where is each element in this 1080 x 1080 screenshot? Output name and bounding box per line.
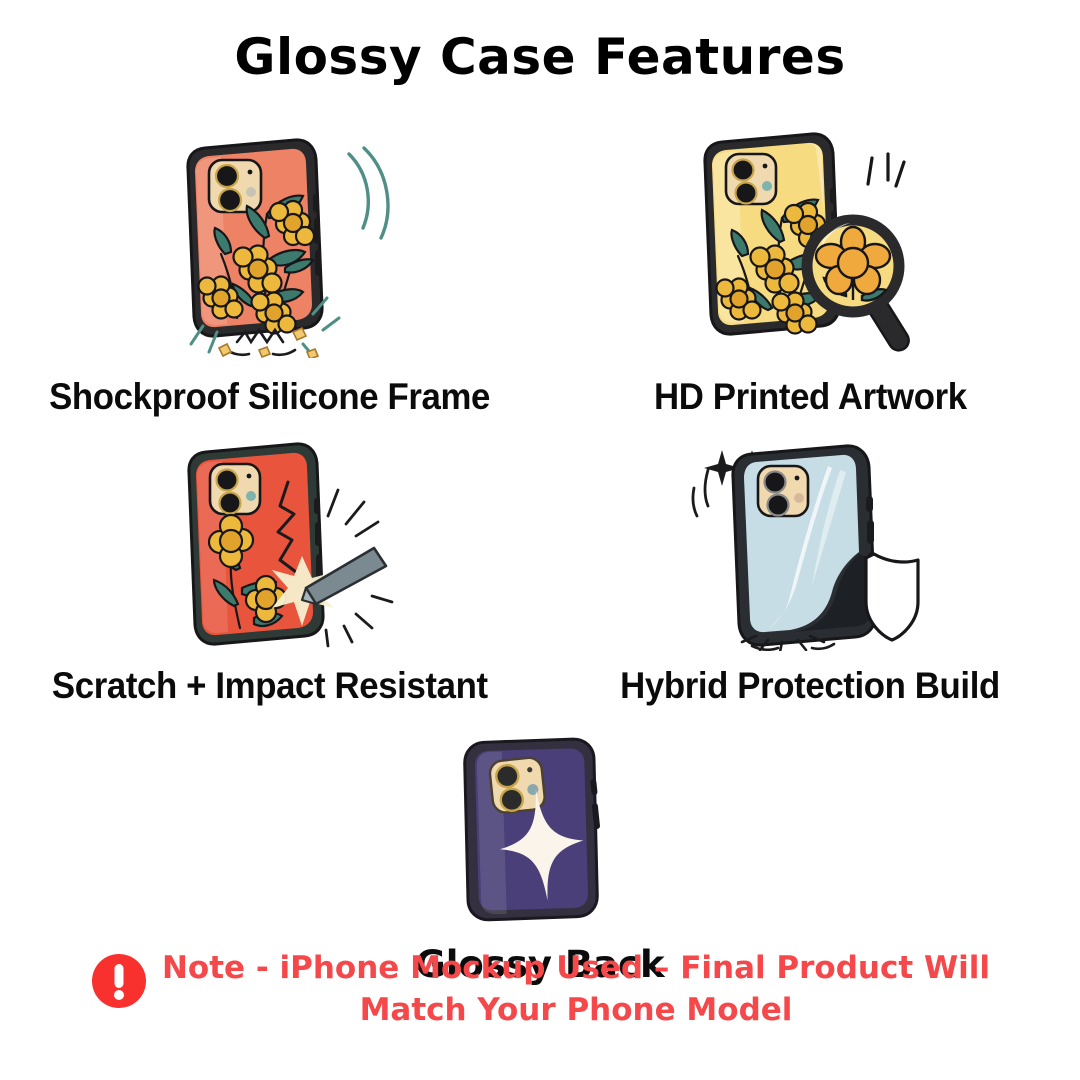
feature-cell-hd-printed-artwork: HD Printed Artwork [540, 118, 1080, 418]
feature-row-2: Scratch + Impact Resistant [0, 436, 1080, 707]
note-line-1: Note - iPhone Mockup Used – Final Produc… [162, 948, 990, 990]
page-title: Glossy Case Features [0, 28, 1080, 86]
note-line-2: Match Your Phone Model [162, 990, 990, 1032]
infographic-page: Glossy Case Features [0, 0, 1080, 1080]
note-text: Note - iPhone Mockup Used – Final Produc… [162, 948, 990, 1032]
note-block: Note - iPhone Mockup Used – Final Produc… [0, 948, 1080, 1032]
feature-cell-scratch-impact-resistant: Scratch + Impact Resistant [0, 436, 540, 707]
phone-case-red-scratch-blade-icon [120, 436, 420, 651]
feature-label-hd-printed-artwork: HD Printed Artwork [654, 376, 967, 418]
phone-case-coral-floral-impact-icon [117, 118, 417, 358]
feature-grid: Shockproof Silicone Frame [0, 118, 1080, 986]
magnifier-icon [807, 220, 912, 354]
feature-label-scratch-impact-resistant: Scratch + Impact Resistant [52, 665, 488, 707]
phone-case-purple-sparkle-icon [410, 729, 670, 929]
feature-cell-shockproof-silicone-frame: Shockproof Silicone Frame [0, 118, 540, 418]
feature-cell-hybrid-protection-build: Hybrid Protection Build [540, 436, 1080, 707]
phone-case-blue-black-shield-icon [660, 436, 960, 651]
exclamation-circle-icon [90, 952, 148, 1010]
feature-label-shockproof-silicone-frame: Shockproof Silicone Frame [50, 376, 491, 418]
feature-label-hybrid-protection-build: Hybrid Protection Build [620, 665, 1000, 707]
feature-row-1: Shockproof Silicone Frame [0, 118, 1080, 418]
shield-icon [866, 554, 918, 640]
phone-case-yellow-floral-magnifier-icon [660, 118, 960, 358]
